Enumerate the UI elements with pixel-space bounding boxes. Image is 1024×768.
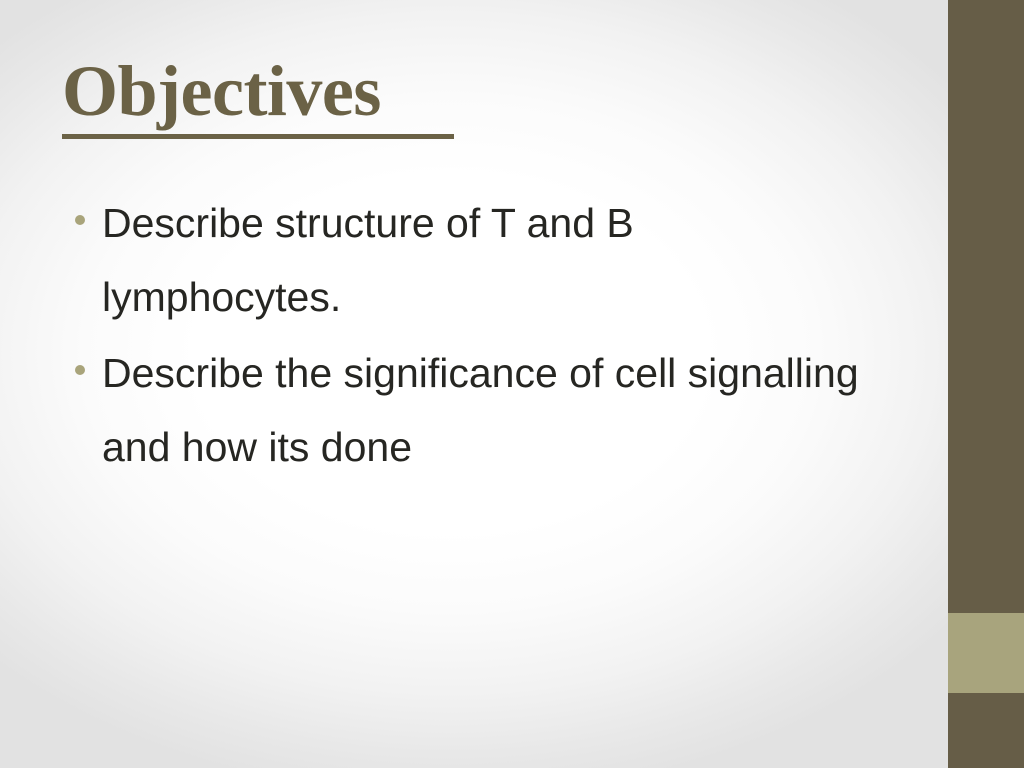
page-title: Objectives xyxy=(62,52,862,130)
list-item: Describe the significance of cell signal… xyxy=(66,336,866,484)
list-item-label: Describe the significance of cell signal… xyxy=(102,336,866,484)
title-block: Objectives xyxy=(62,52,862,139)
sidebar-band-middle xyxy=(948,613,1024,693)
presentation-slide: Objectives Describe structure of T and B… xyxy=(0,0,1024,768)
title-underline xyxy=(62,134,454,139)
bullet-dot-icon xyxy=(75,215,85,225)
list-item: Describe structure of T and B lymphocyte… xyxy=(66,186,866,334)
sidebar-band-bottom xyxy=(948,693,1024,768)
sidebar-band-top xyxy=(948,0,1024,613)
list-item-label: Describe structure of T and B lymphocyte… xyxy=(102,186,866,334)
bullet-list: Describe structure of T and B lymphocyte… xyxy=(66,186,866,486)
bullet-dot-icon xyxy=(75,365,85,375)
